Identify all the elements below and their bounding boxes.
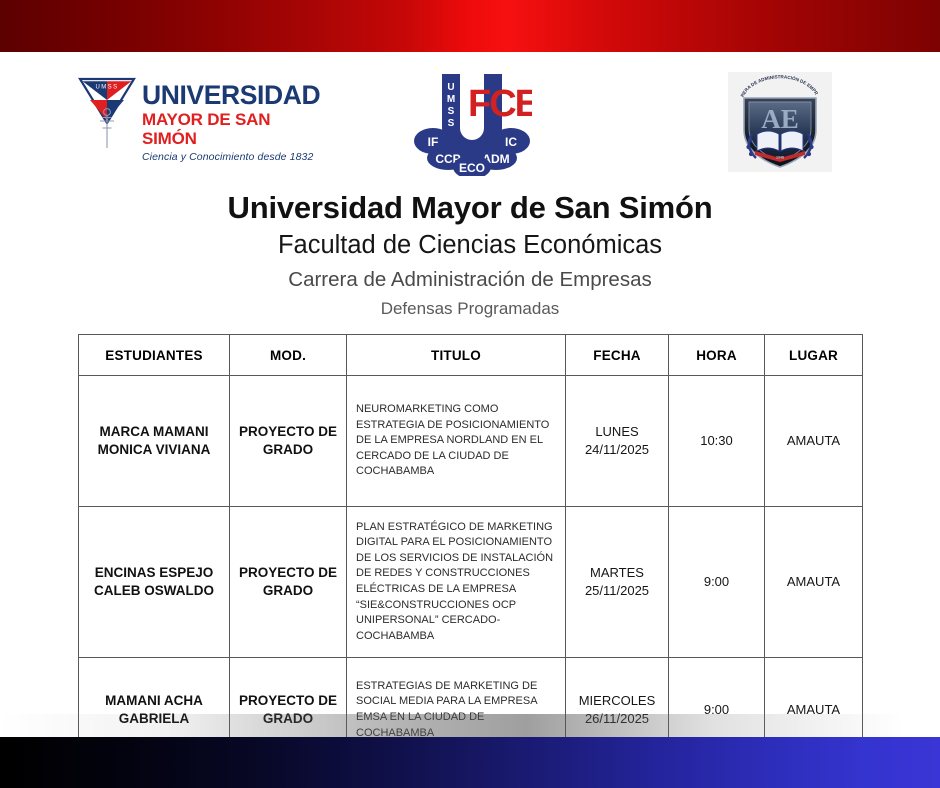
title-block: Universidad Mayor de San Simón Facultad … [0, 190, 940, 321]
student-name-line2: GABRIELA [85, 710, 223, 728]
svg-text:CARRERA DE ADMINISTRACIÓN DE E: CARRERA DE ADMINISTRACIÓN DE EMPRESAS [728, 72, 819, 98]
svg-text:U: U [447, 82, 454, 93]
administracion-empresas-crest: CARRERA DE ADMINISTRACIÓN DE EMPRESAS AE… [728, 72, 832, 172]
cell-modality: PROYECTO DE GRADO [230, 376, 347, 507]
date-value: 26/11/2025 [570, 710, 664, 728]
cell-place: AMAUTA [765, 507, 863, 658]
date-value: 24/11/2025 [570, 441, 664, 459]
header-estudiantes: ESTUDIANTES [79, 335, 230, 376]
table-row: MARCA MAMANI MONICA VIVIANA PROYECTO DE … [79, 376, 863, 507]
svg-text:AE: AE [761, 104, 799, 134]
student-name-line1: MAMANI ACHA [85, 692, 223, 710]
cell-time: 10:30 [669, 376, 765, 507]
date-weekday: LUNES [570, 423, 664, 441]
header-titulo: TITULO [347, 335, 566, 376]
cell-place: AMAUTA [765, 376, 863, 507]
date-weekday: MARTES [570, 564, 664, 582]
schedule-table-wrapper: ESTUDIANTES MOD. TITULO FECHA HORA LUGAR… [78, 334, 862, 763]
cell-date: MARTES 25/11/2025 [566, 507, 669, 658]
student-name-line1: ENCINAS ESPEJO [85, 564, 223, 582]
student-name-line2: MONICA VIVIANA [85, 441, 223, 459]
bottom-decorative-banner [0, 737, 940, 788]
modality-line2: GRADO [236, 582, 340, 600]
header-hora: HORA [669, 335, 765, 376]
modality-line1: PROYECTO DE [236, 692, 340, 710]
fce-logo-icon: U M S S FCE IF IC CCP ADM ECO [412, 68, 532, 176]
cell-students: ENCINAS ESPEJO CALEB OSWALDO [79, 507, 230, 658]
svg-text:FCE: FCE [468, 83, 532, 125]
cell-date: LUNES 24/11/2025 [566, 376, 669, 507]
header-fecha: FECHA [566, 335, 669, 376]
defense-schedule-table: ESTUDIANTES MOD. TITULO FECHA HORA LUGAR… [78, 334, 863, 763]
page-title: Universidad Mayor de San Simón [0, 190, 940, 227]
cell-thesis-title: NEUROMARKETING COMO ESTRATEGIA DE POSICI… [347, 376, 566, 507]
modality-line1: PROYECTO DE [236, 423, 340, 441]
umss-logo: UMSS UNIVERSIDAD MAYOR DE SAN SIMÓN Cien… [78, 76, 328, 154]
umss-word-line1: UNIVERSIDAD [142, 82, 328, 109]
svg-text:1946: 1946 [776, 156, 784, 160]
svg-text:IF: IF [428, 135, 439, 149]
svg-text:M: M [447, 94, 455, 105]
date-value: 25/11/2025 [570, 582, 664, 600]
section-subtitle: Defensas Programadas [0, 298, 940, 321]
umss-wordmark: UNIVERSIDAD MAYOR DE SAN SIMÓN Ciencia y… [142, 82, 328, 163]
career-subtitle: Carrera de Administración de Empresas [0, 266, 940, 294]
svg-text:S: S [448, 106, 455, 117]
crest-icon: CARRERA DE ADMINISTRACIÓN DE EMPRESAS AE… [728, 72, 832, 172]
svg-text:S: S [448, 118, 455, 129]
svg-text:ECO: ECO [459, 161, 485, 175]
svg-text:IC: IC [505, 135, 517, 149]
table-header-row: ESTUDIANTES MOD. TITULO FECHA HORA LUGAR [79, 335, 863, 376]
table-row: ENCINAS ESPEJO CALEB OSWALDO PROYECTO DE… [79, 507, 863, 658]
cell-modality: PROYECTO DE GRADO [230, 507, 347, 658]
top-decorative-banner [0, 0, 940, 52]
faculty-subtitle: Facultad de Ciencias Económicas [0, 229, 940, 262]
student-name-line2: CALEB OSWALDO [85, 582, 223, 600]
umss-word-line3: Ciencia y Conocimiento desde 1832 [142, 151, 328, 164]
header-lugar: LUGAR [765, 335, 863, 376]
umss-word-line2: MAYOR DE SAN SIMÓN [142, 110, 328, 149]
student-name-line1: MARCA MAMANI [85, 423, 223, 441]
modality-line2: GRADO [236, 441, 340, 459]
date-weekday: MIERCOLES [570, 692, 664, 710]
cell-time: 9:00 [669, 507, 765, 658]
svg-text:UMSS: UMSS [96, 85, 119, 91]
modality-line1: PROYECTO DE [236, 564, 340, 582]
header-mod: MOD. [230, 335, 347, 376]
cell-thesis-title: PLAN ESTRATÉGICO DE MARKETING DIGITAL PA… [347, 507, 566, 658]
modality-line2: GRADO [236, 710, 340, 728]
logo-row: UMSS UNIVERSIDAD MAYOR DE SAN SIMÓN Cien… [0, 60, 940, 182]
cell-students: MARCA MAMANI MONICA VIVIANA [79, 376, 230, 507]
umss-shield-icon: UMSS [78, 76, 136, 154]
